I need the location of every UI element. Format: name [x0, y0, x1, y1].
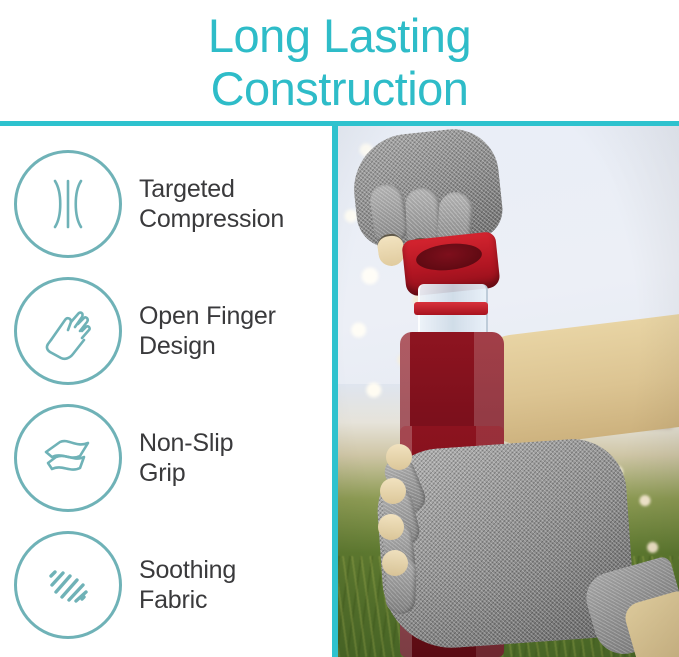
glove-icon — [14, 277, 122, 385]
stacked-sheets-icon — [14, 404, 122, 512]
exposed-fingertip — [380, 478, 406, 504]
feature-label-line-2: Design — [139, 331, 276, 361]
feature-label-line-2: Grip — [139, 458, 233, 488]
feature-item-soothing-fabric: Soothing Fabric — [14, 521, 332, 648]
header: Long Lasting Construction — [0, 0, 679, 121]
feature-label-soothing-fabric: Soothing Fabric — [139, 555, 236, 615]
feature-label-line-1: Non-Slip — [139, 428, 233, 458]
feature-label-line-2: Fabric — [139, 585, 236, 615]
feature-list: Targeted Compression Open Finger Design — [0, 126, 332, 657]
content-row: Targeted Compression Open Finger Design — [0, 126, 679, 657]
page-title-line-2: Construction — [211, 62, 469, 115]
exposed-fingertip — [378, 514, 404, 540]
exposed-fingertip — [382, 550, 408, 576]
exposed-fingertip — [386, 444, 412, 470]
diagonal-stripes-icon — [14, 531, 122, 639]
product-lifestyle-photo — [338, 126, 679, 657]
feature-item-non-slip-grip: Non-Slip Grip — [14, 394, 332, 521]
feature-label-line-1: Targeted — [139, 174, 284, 204]
feature-item-targeted-compression: Targeted Compression — [14, 140, 332, 267]
feature-label-line-1: Open Finger — [139, 301, 276, 331]
feature-label-line-1: Soothing — [139, 555, 236, 585]
feature-label-non-slip-grip: Non-Slip Grip — [139, 428, 233, 488]
page-title-line-1: Long Lasting — [208, 9, 471, 62]
feature-label-targeted-compression: Targeted Compression — [139, 174, 284, 234]
compression-arrows-icon — [14, 150, 122, 258]
feature-item-open-finger-design: Open Finger Design — [14, 267, 332, 394]
feature-label-line-2: Compression — [139, 204, 284, 234]
feature-label-open-finger-design: Open Finger Design — [139, 301, 276, 361]
bottle-seal-ring — [414, 302, 488, 315]
